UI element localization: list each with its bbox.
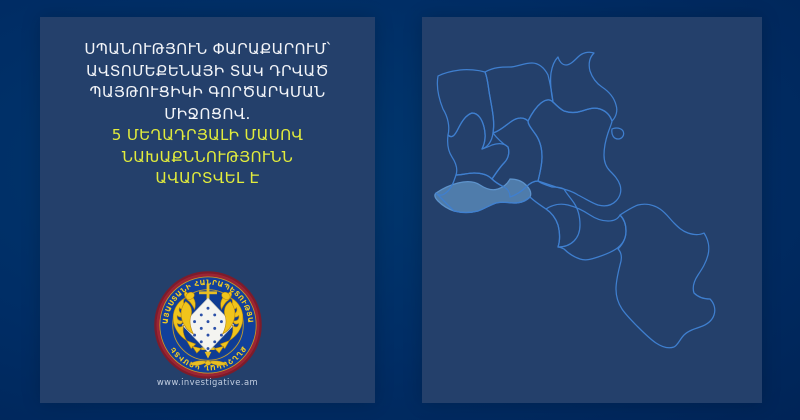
headline-line-7: ԱՎԱՐՏՎԵԼ Է (46, 168, 369, 190)
headline-line-3: ՊԱՅԹՈՒՑԻԿԻ ԳՈՐԾԱՐԿՄԱՆ (46, 82, 369, 104)
map-region-armavir[interactable] (435, 179, 531, 213)
map-region-sevan-inset (612, 128, 624, 139)
map-region-syunik[interactable] (616, 204, 715, 348)
headline-panel: ՍՊԱՆՈՒԹՅՈՒՆ ՓԱՐԱՔԱՐՈՒՄ՝ ԱՎՏՈՄԵՔԵՆԱՅԻ ՏԱԿ… (40, 17, 375, 403)
map-region-lori[interactable] (485, 63, 553, 133)
headline-line-2: ԱՎՏՈՄԵՔԵՆԱՅԻ ՏԱԿ ԴՐՎԱԾ (46, 61, 369, 83)
site-url[interactable]: www.investigative.am (40, 377, 375, 387)
map-region-vayots-dzor[interactable] (546, 204, 626, 260)
headline-block: ՍՊԱՆՈՒԹՅՈՒՆ ՓԱՐԱՔԱՐՈՒՄ՝ ԱՎՏՈՄԵՔԵՆԱՅԻ ՏԱԿ… (40, 39, 375, 190)
map-panel (422, 17, 762, 403)
headline-line-4: ՄԻՋՈՑՈՎ. (46, 104, 369, 126)
headline-line-1: ՍՊԱՆՈՒԹՅՈՒՆ ՓԱՐԱՔԱՐՈՒՄ՝ (46, 39, 369, 61)
investigative-committee-seal-icon: ՀԱՅԱՍՏԱՆԻ ՀԱՆՐԱՊԵՏՈՒԹՅԱՆ ՔՆՆՉԱԿԱՆ ԿՈՄԻՏԵ (152, 269, 264, 381)
headline-line-5: 5 ՄԵՂԱԴՐՅԱԼԻ ՄԱՍՈՎ (46, 125, 369, 147)
poster-root: ՍՊԱՆՈՒԹՅՈՒՆ ՓԱՐԱՔԱՐՈՒՄ՝ ԱՎՏՈՄԵՔԵՆԱՅԻ ՏԱԿ… (0, 0, 800, 420)
headline-line-6: ՆԱԽԱՔՆՆՈՒԹՅՈՒՆՆ (46, 147, 369, 169)
map-region-gegharkunik[interactable] (528, 100, 621, 206)
armenia-provinces-map-icon (422, 17, 762, 403)
